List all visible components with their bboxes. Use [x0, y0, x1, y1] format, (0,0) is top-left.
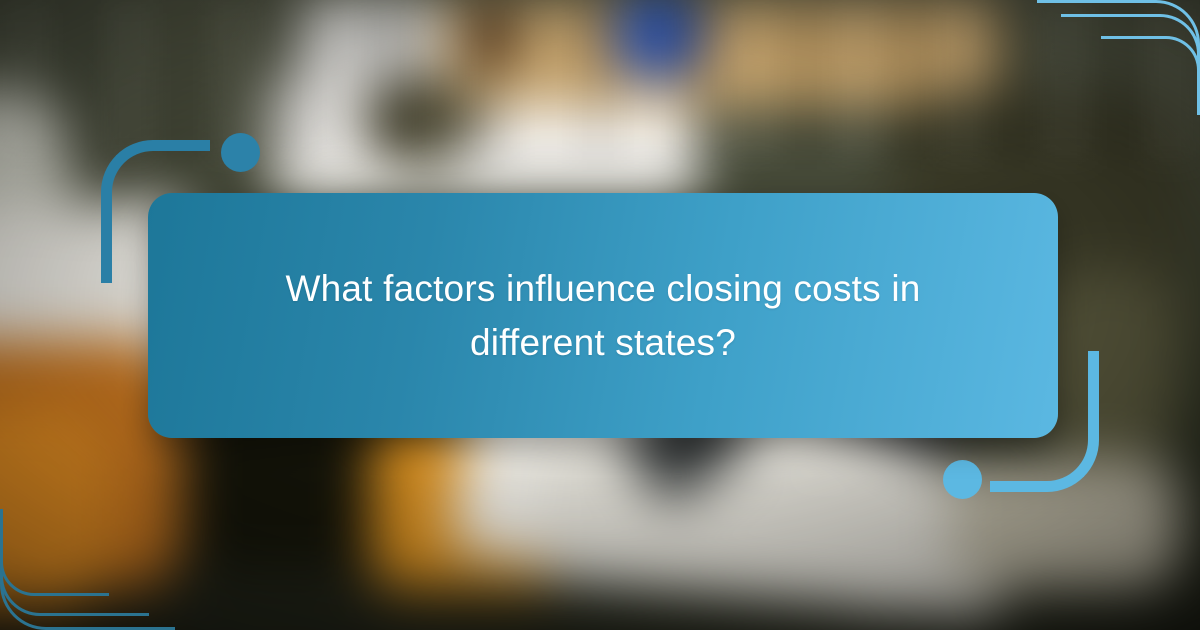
question-text: What factors influence closing costs in … [220, 262, 986, 369]
question-card-banner: What factors influence closing costs in … [0, 0, 1200, 630]
question-card: What factors influence closing costs in … [148, 193, 1058, 438]
